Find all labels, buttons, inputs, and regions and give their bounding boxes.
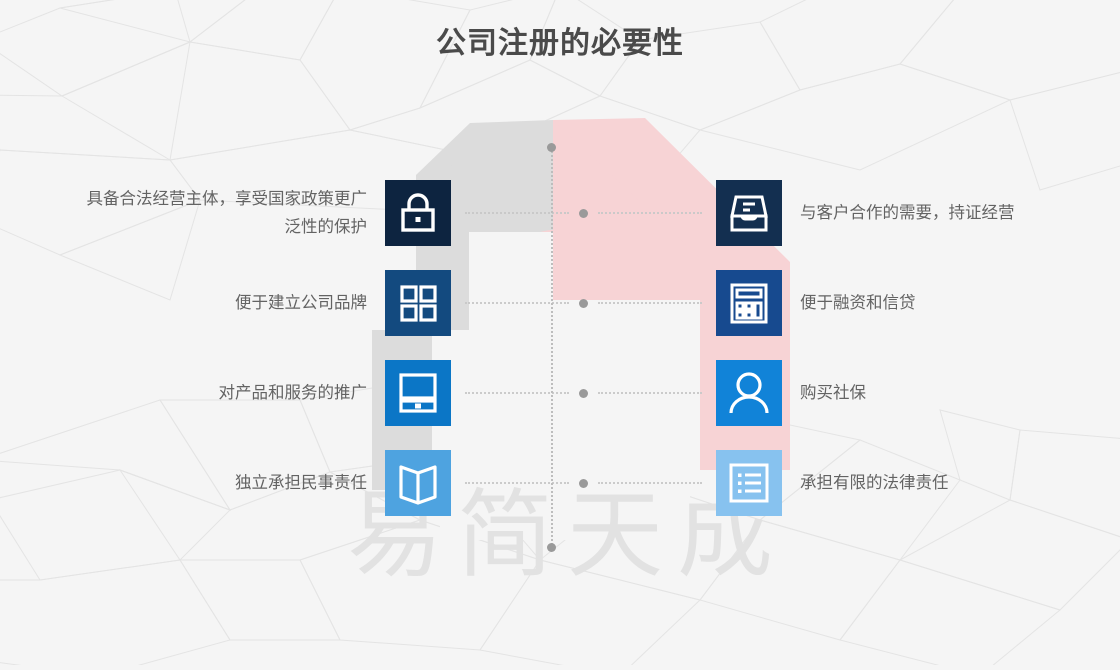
- spine-node: [579, 299, 588, 308]
- connector-dots-right: [598, 392, 702, 395]
- connector-dots-right: [598, 482, 702, 485]
- grid-squares-icon[interactable]: [385, 270, 451, 336]
- spine-node: [579, 389, 588, 398]
- connector-dots-right: [598, 302, 702, 305]
- feature-label-right: 承担有限的法律责任: [800, 469, 1120, 497]
- feature-label-right: 便于融资和信贷: [800, 289, 1120, 317]
- feature-label-left: 便于建立公司品牌: [85, 289, 385, 317]
- spine-node-bottom: [547, 543, 556, 552]
- monitor-icon[interactable]: [385, 360, 451, 426]
- feature-label-left: 具备合法经营主体，享受国家政策更广泛性的保护: [85, 185, 385, 241]
- connector-dots-right: [598, 212, 702, 215]
- feature-label-right: 购买社保: [800, 379, 1120, 407]
- spine-node-top: [547, 143, 556, 152]
- feature-row: 具备合法经营主体，享受国家政策更广泛性的保护: [0, 180, 1120, 246]
- spine-node: [579, 209, 588, 218]
- lock-icon[interactable]: [385, 180, 451, 246]
- open-book-icon[interactable]: [385, 450, 451, 516]
- feature-label-left: 对产品和服务的推广: [85, 379, 385, 407]
- list-document-icon[interactable]: [716, 450, 782, 516]
- feature-label-left: 独立承担民事责任: [85, 469, 385, 497]
- feature-grid: 具备合法经营主体，享受国家政策更广泛性的保护: [0, 0, 1120, 665]
- spine-node: [579, 479, 588, 488]
- center-spine-line: [551, 148, 555, 548]
- inbox-tray-icon[interactable]: [716, 180, 782, 246]
- feature-row: 便于建立公司品牌: [0, 270, 1120, 336]
- calculator-icon[interactable]: [716, 270, 782, 336]
- feature-row: 对产品和服务的推广 购买社保: [0, 360, 1120, 426]
- feature-label-right: 与客户合作的需要，持证经营: [800, 199, 1120, 227]
- feature-row: 独立承担民事责任: [0, 450, 1120, 516]
- page-title: 公司注册的必要性: [0, 18, 1120, 62]
- user-person-icon[interactable]: [716, 360, 782, 426]
